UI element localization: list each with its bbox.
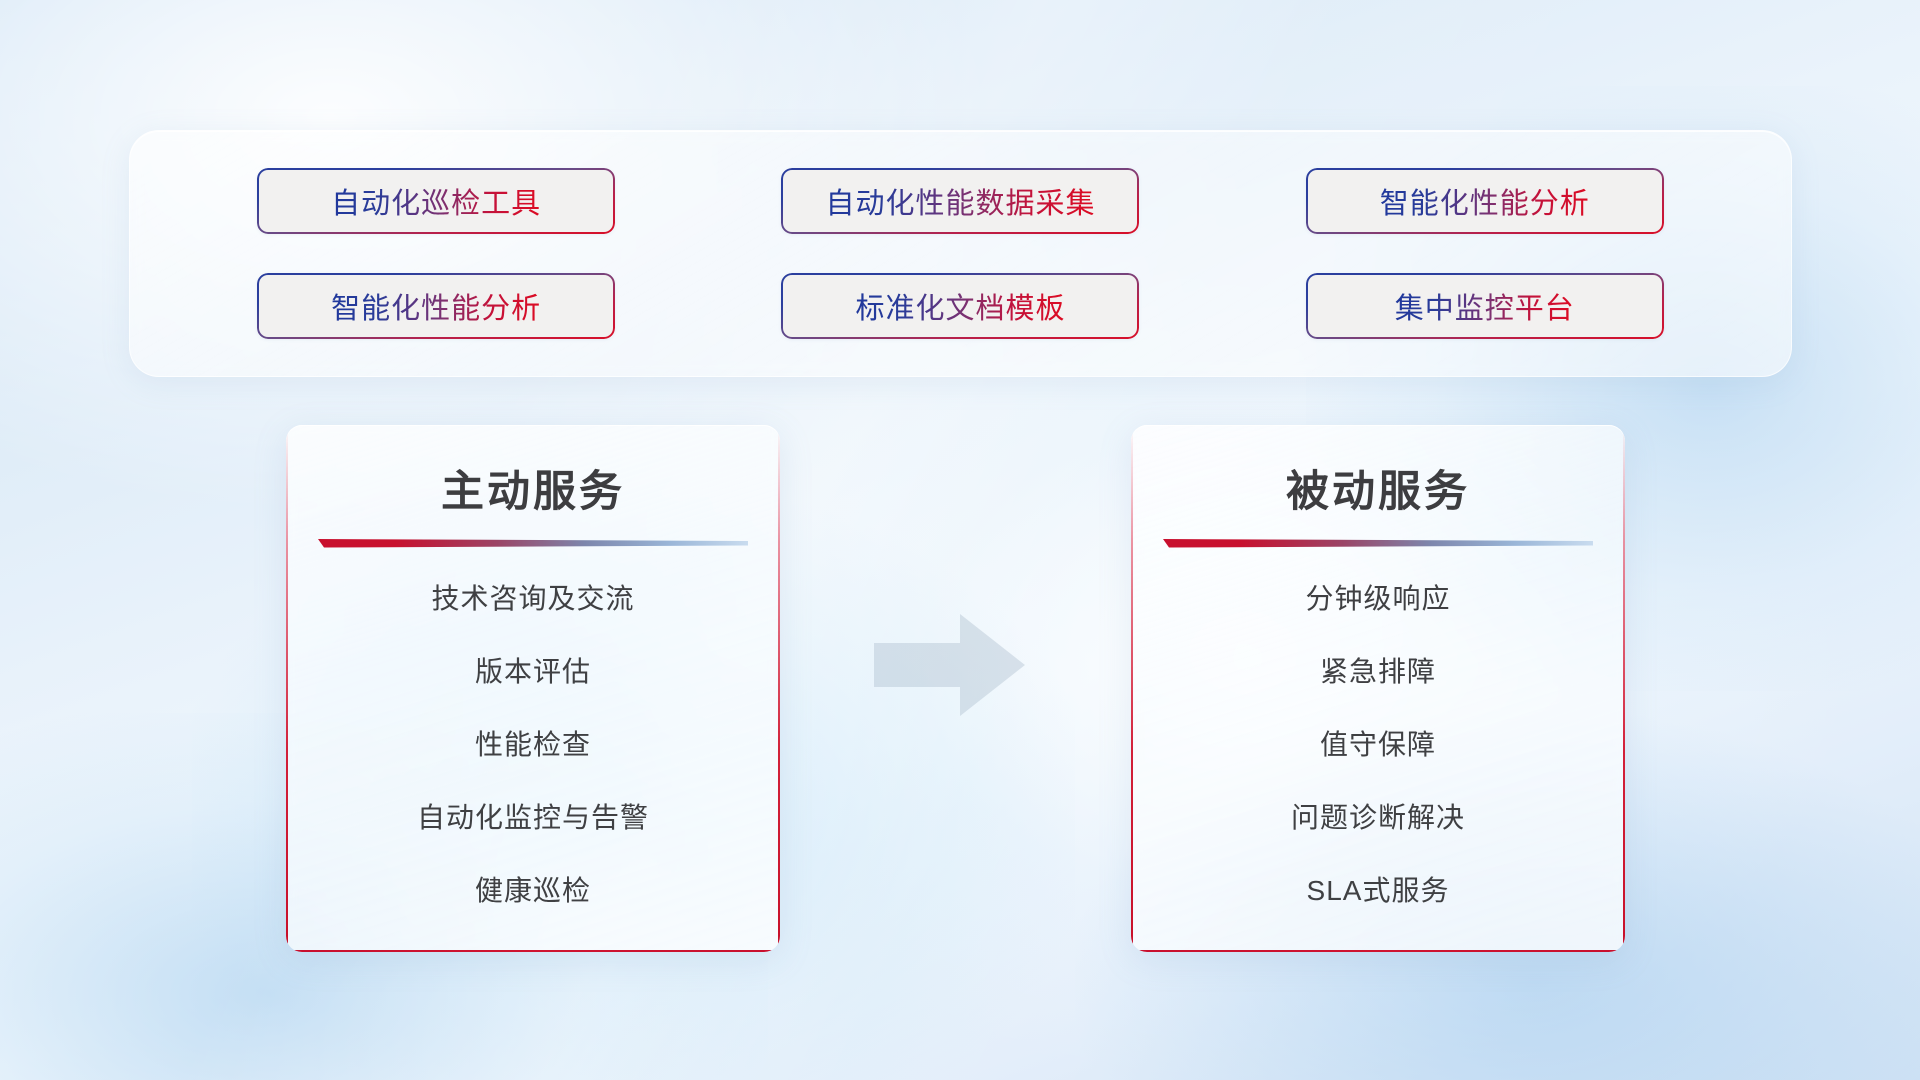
title-divider-gradient xyxy=(1163,537,1593,550)
service-item: 性能检查 xyxy=(475,731,591,759)
service-item: 值守保障 xyxy=(1320,731,1436,759)
service-card-title: 主动服务 xyxy=(286,457,780,519)
capability-panel: 自动化巡检工具 自动化性能数据采集 智能化性能分析 智能化性能分析 标准化文档模… xyxy=(129,130,1792,377)
capability-chip-label: 集中监控平台 xyxy=(1395,285,1575,327)
capability-chip-4[interactable]: 智能化性能分析 xyxy=(257,273,615,339)
capability-chip-grid: 自动化巡检工具 自动化性能数据采集 智能化性能分析 智能化性能分析 标准化文档模… xyxy=(130,131,1791,376)
service-card-passive[interactable]: 被动服务 分钟级响应 紧急排障 值守保障 xyxy=(1131,425,1625,952)
service-item-list: 分钟级响应 紧急排障 值守保障 问题诊断解决 SLA式服务 xyxy=(1131,585,1625,905)
capability-chip-label: 标准化文档模板 xyxy=(855,285,1065,327)
service-item: 自动化监控与告警 xyxy=(417,804,649,832)
capability-chip-label: 自动化性能数据采集 xyxy=(825,180,1095,222)
capability-chip-1[interactable]: 自动化巡检工具 xyxy=(257,168,615,234)
capability-chip-label: 智能化性能分析 xyxy=(1380,180,1590,222)
service-item: SLA式服务 xyxy=(1307,877,1450,905)
service-card-active[interactable]: 主动服务 技术咨询及交流 版本评估 性能检查 xyxy=(286,425,780,952)
service-card-title: 被动服务 xyxy=(1131,457,1625,519)
capability-chip-label: 自动化巡检工具 xyxy=(331,180,541,222)
service-item: 问题诊断解决 xyxy=(1291,804,1465,832)
service-item: 健康巡检 xyxy=(475,877,591,905)
service-item-list: 技术咨询及交流 版本评估 性能检查 自动化监控与告警 健康巡检 xyxy=(286,585,780,905)
slide-stage: 自动化巡检工具 自动化性能数据采集 智能化性能分析 智能化性能分析 标准化文档模… xyxy=(0,0,1920,1080)
capability-chip-3[interactable]: 智能化性能分析 xyxy=(1306,168,1664,234)
card-bottom-accent-bar xyxy=(286,950,780,952)
arrow-right-icon xyxy=(872,610,1027,720)
service-item: 技术咨询及交流 xyxy=(431,585,634,613)
card-bottom-accent-bar xyxy=(1131,950,1625,952)
service-item: 分钟级响应 xyxy=(1305,585,1450,613)
service-item: 版本评估 xyxy=(475,658,591,686)
capability-chip-6[interactable]: 集中监控平台 xyxy=(1306,273,1664,339)
capability-chip-2[interactable]: 自动化性能数据采集 xyxy=(781,168,1139,234)
capability-chip-5[interactable]: 标准化文档模板 xyxy=(781,273,1139,339)
title-divider-gradient xyxy=(318,537,748,550)
service-item: 紧急排障 xyxy=(1320,658,1436,686)
capability-chip-label: 智能化性能分析 xyxy=(331,285,541,327)
